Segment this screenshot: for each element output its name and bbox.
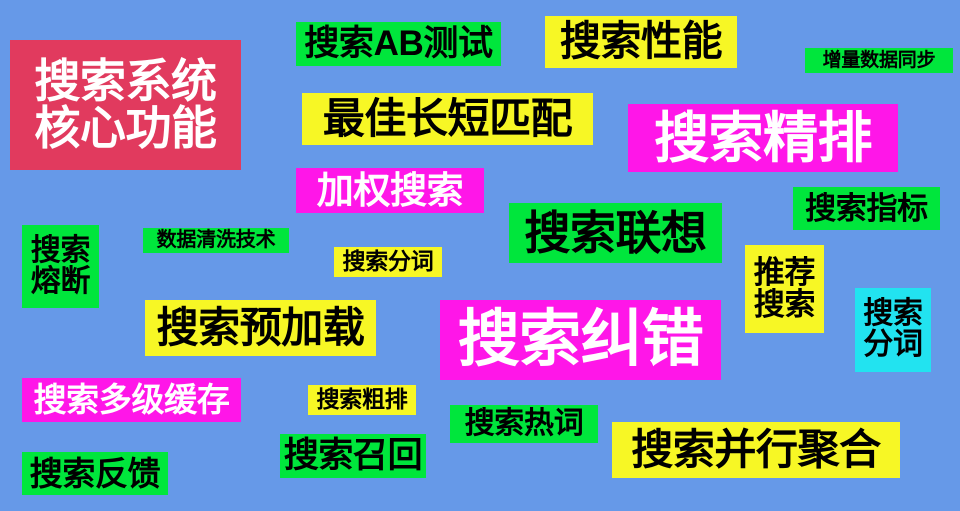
word-line: 最佳长短匹配 [323,98,572,141]
word-line: 搜索联想 [524,210,706,257]
word-line: 搜索反馈 [30,457,161,491]
word-tag-incremental-sync: 增量数据同步 [805,48,953,73]
word-tag-error-correction: 搜索纠错 [440,300,721,380]
word-line: 搜索多级缓存 [33,383,229,417]
word-line: 搜索预加载 [157,307,365,350]
word-tag-weighted-search: 加权搜索 [296,168,484,213]
word-tag-tokenization-cyan: 搜索分词 [855,288,931,372]
word-tag-feedback: 搜索反馈 [22,452,168,495]
word-tag-multi-level-cache: 搜索多级缓存 [22,378,241,422]
word-tag-performance: 搜索性能 [545,16,737,68]
word-tag-recommend-search: 推荐搜索 [745,245,824,333]
word-tag-best-length-match: 最佳长短匹配 [302,93,593,145]
word-tag-search-metrics: 搜索指标 [793,187,940,230]
word-line: 搜索系统 [34,58,216,105]
word-tag-circuit-breaker: 搜索熔断 [22,225,99,308]
word-line: 推荐 [754,257,815,289]
word-line: 分词 [863,330,922,361]
word-line: 熔断 [31,267,90,298]
word-line: 搜索AB测试 [304,26,492,62]
word-line: 核心功能 [34,105,216,152]
word-line: 搜索 [863,299,922,330]
word-tag-recall: 搜索召回 [280,434,426,478]
word-line: 搜索分词 [342,250,433,273]
word-tag-suggestion: 搜索联想 [509,203,722,263]
word-cloud-canvas: 搜索系统核心功能搜索AB测试搜索性能增量数据同步最佳长短匹配搜索精排加权搜索搜索… [0,0,960,511]
word-line: 搜索 [31,236,90,267]
word-tag-parallel-aggregation: 搜索并行聚合 [612,422,900,478]
word-tag-coarse-ranking: 搜索粗排 [308,385,416,415]
word-line: 数据清洗技术 [157,230,276,250]
word-line: 搜索召回 [284,438,423,474]
word-tag-fine-ranking: 搜索精排 [628,104,898,172]
word-tag-preload: 搜索预加载 [145,300,376,356]
word-line: 加权搜索 [317,172,464,210]
word-line: 搜索并行聚合 [631,429,880,472]
word-tag-tokenization-yellow: 搜索分词 [334,247,442,277]
word-line: 搜索精排 [654,110,872,166]
word-line: 搜索指标 [805,193,928,225]
word-line: 增量数据同步 [823,51,936,70]
word-tag-data-cleaning: 数据清洗技术 [143,228,289,253]
word-line: 搜索热词 [465,409,584,440]
word-line: 搜索纠错 [458,308,704,371]
word-tag-hot-words: 搜索热词 [450,405,598,443]
word-line: 搜索 [754,289,815,321]
word-line: 搜索粗排 [316,388,407,411]
word-tag-title: 搜索系统核心功能 [10,40,241,170]
word-line: 搜索性能 [560,21,722,63]
word-tag-ab-test: 搜索AB测试 [296,22,501,66]
